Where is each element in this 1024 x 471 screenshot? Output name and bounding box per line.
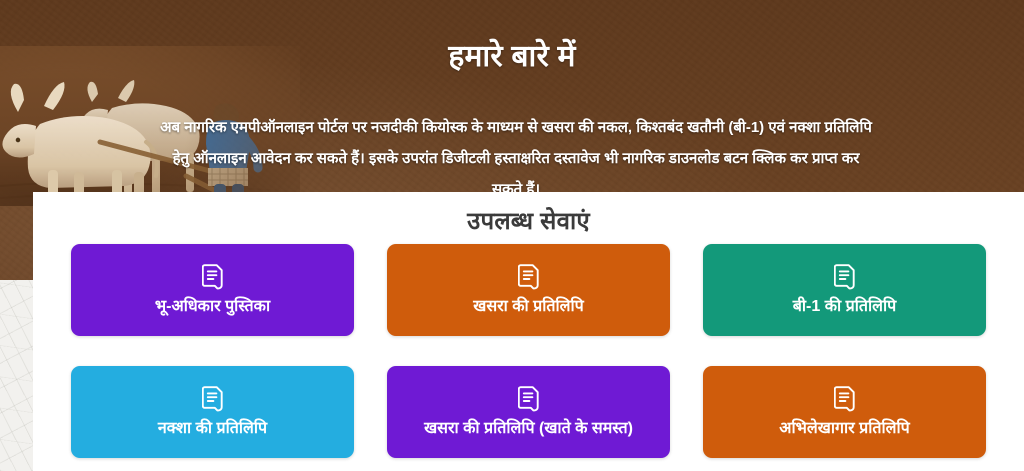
service-card-naksha-ki-pratilipi[interactable]: नक्शा की प्रतिलिपि [71, 366, 354, 458]
service-card-label: अभिलेखागार प्रतिलिपि [771, 419, 917, 439]
service-card-khasra-ki-pratilipi[interactable]: खसरा की प्रतिलिपि [387, 244, 670, 336]
service-card-label: खसरा की प्रतिलिपि (खाते के समस्त) [416, 419, 641, 439]
document-lines-icon [518, 264, 540, 290]
document-lines-icon [202, 386, 224, 412]
services-card-grid: भू-अधिकार पुस्तिका खसरा की प्रतिलिपि [33, 244, 1024, 458]
document-lines-icon [834, 264, 856, 290]
service-card-abhilekhagar-pratilipi[interactable]: अभिलेखागार प्रतिलिपि [703, 366, 986, 458]
service-card-khasra-ki-pratilipi-khate-ke-samast[interactable]: खसरा की प्रतिलिपि (खाते के समस्त) [387, 366, 670, 458]
service-card-b1-ki-pratilipi[interactable]: बी-1 की प्रतिलिपि [703, 244, 986, 336]
service-card-bhu-adhikar-pustika[interactable]: भू-अधिकार पुस्तिका [71, 244, 354, 336]
about-us-page: हमारे बारे में अब नागरिक एमपीऑनलाइन पोर्… [0, 0, 1024, 471]
document-lines-icon [202, 264, 224, 290]
service-card-label: खसरा की प्रतिलिपि [465, 297, 592, 317]
service-card-label: नक्शा की प्रतिलिपि [150, 419, 275, 439]
available-services-panel: उपलब्ध सेवाएं भू-अधिकार पुस्तिका [33, 192, 1024, 471]
document-lines-icon [834, 386, 856, 412]
map-texture-strip [0, 280, 33, 471]
service-card-label: भू-अधिकार पुस्तिका [147, 297, 278, 317]
page-title: हमारे बारे में [0, 39, 1024, 75]
services-heading: उपलब्ध सेवाएं [33, 192, 1024, 237]
service-card-label: बी-1 की प्रतिलिपि [785, 297, 904, 317]
document-lines-icon [518, 386, 540, 412]
